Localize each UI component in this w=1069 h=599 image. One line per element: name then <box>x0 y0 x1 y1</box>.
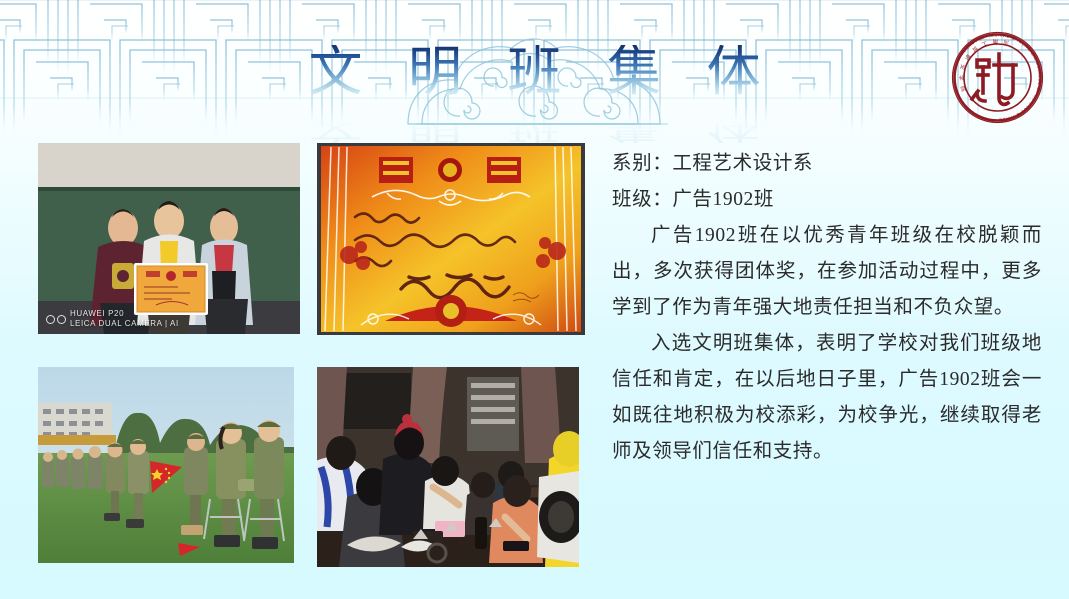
photo-class-activity-workshop[interactable] <box>317 367 579 567</box>
seal-center-glyph <box>972 54 1016 104</box>
page-title: 文 明 班 集 体 <box>293 45 777 99</box>
body-paragraph-1: 广告1902班在以优秀青年班级在校脱颖而出，多次获得团体奖，在参加活动过程中，更… <box>612 218 1042 326</box>
watermark-line-2: LEICA DUAL CAMERA | AI <box>70 319 179 328</box>
page-title-reflection-text: 文 明 班 集 体 <box>293 119 777 143</box>
university-seal: HENAN POLYTECHNIC & TECHNICAL COLLEGE OF… <box>947 27 1048 128</box>
content-text-column: 系别：工程艺术设计系 班级：广告1902班 广告1902班在以优秀青年班级在校脱… <box>612 146 1042 470</box>
page-title-wrap: 文 明 班 集 体 <box>0 26 1069 118</box>
decorative-meander-pattern <box>0 0 1069 144</box>
class-label: 班级： <box>612 189 672 210</box>
photo-award-certificate[interactable] <box>317 143 585 335</box>
class-value: 广告1902班 <box>672 189 774 210</box>
class-line: 班级：广告1902班 <box>612 182 1042 218</box>
department-label: 系别： <box>612 153 672 174</box>
photo-award-group-classroom[interactable]: HUAWEI P20 LEICA DUAL CAMERA | AI <box>38 143 300 334</box>
body-paragraph-2: 入选文明班集体，表明了学校对我们班级地信任和肯定，在以后地日子里，广告1902班… <box>612 326 1042 470</box>
department-line: 系别：工程艺术设计系 <box>612 146 1042 182</box>
camera-lens-icon <box>46 315 66 324</box>
watermark-line-1: HUAWEI P20 <box>70 309 124 318</box>
department-value: 工程艺术设计系 <box>672 153 813 174</box>
photo-military-training[interactable] <box>38 367 294 563</box>
slide-root: 文 明 班 集 体 文 明 班 集 体 HENAN POLYTECHNIC & … <box>0 0 1069 599</box>
camera-watermark: HUAWEI P20 LEICA DUAL CAMERA | AI <box>46 309 179 329</box>
ruyi-cloud-motif <box>408 39 668 124</box>
